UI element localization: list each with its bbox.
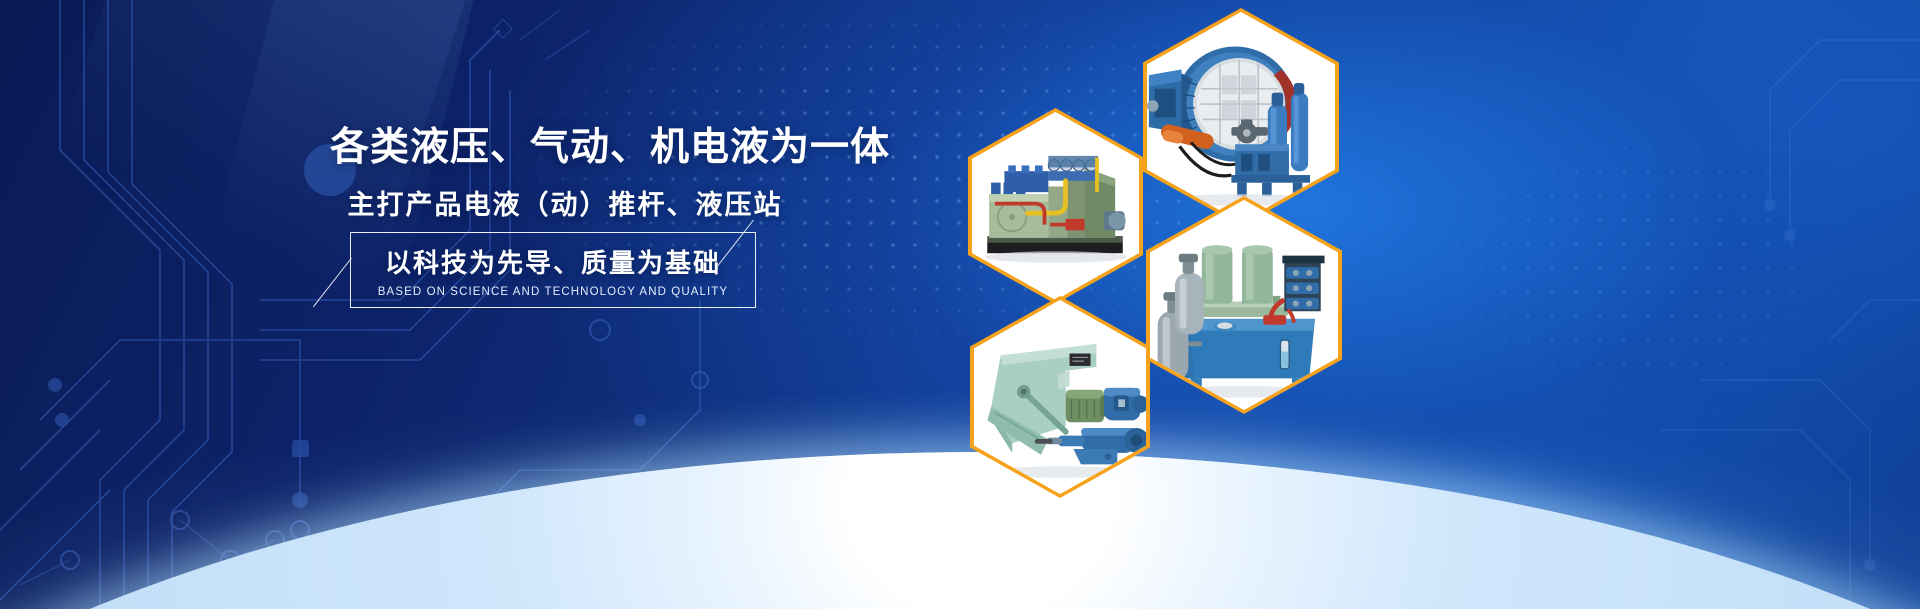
hydraulic-pump-station-illustration [972, 112, 1139, 299]
hydraulic-power-unit-illustration [1150, 200, 1338, 409]
product-hexagon-hydraulic-power-unit[interactable] [1146, 196, 1342, 414]
page-title: 各类液压、气动、机电液为一体 [330, 126, 800, 170]
slogan-english: BASED ON SCIENCE AND TECHNOLOGY AND QUAL… [378, 286, 728, 298]
electro-hydraulic-pushrod-gate-illustration [974, 300, 1146, 493]
slogan-chinese: 以科技为先导、质量为基础 [385, 243, 721, 280]
product-hexagon-hydraulic-pump-station[interactable] [968, 108, 1143, 304]
headline-block: 各类液压、气动、机电液为一体 主打产品电液（动）推杆、液压站 [330, 126, 800, 222]
hexagon-inner-frame [972, 112, 1139, 300]
hexagon-inner-frame [1150, 200, 1338, 410]
slogan-block: 以科技为先导、质量为基础 BASED ON SCIENCE AND TECHNO… [324, 232, 774, 308]
globe-horizon [0, 452, 1920, 609]
slogan-slash-left-decoration [313, 258, 352, 307]
hexagon-inner-frame [1147, 12, 1335, 222]
page-subtitle: 主打产品电液（动）推杆、液压站 [330, 183, 800, 222]
hero-banner: 各类液压、气动、机电液为一体 主打产品电液（动）推杆、液压站 以科技为先导、质量… [0, 0, 1920, 609]
product-hexagon-butterfly-valve[interactable] [1143, 8, 1339, 226]
slogan-box: 以科技为先导、质量为基础 BASED ON SCIENCE AND TECHNO… [350, 232, 756, 308]
butterfly-valve-illustration [1147, 12, 1335, 221]
